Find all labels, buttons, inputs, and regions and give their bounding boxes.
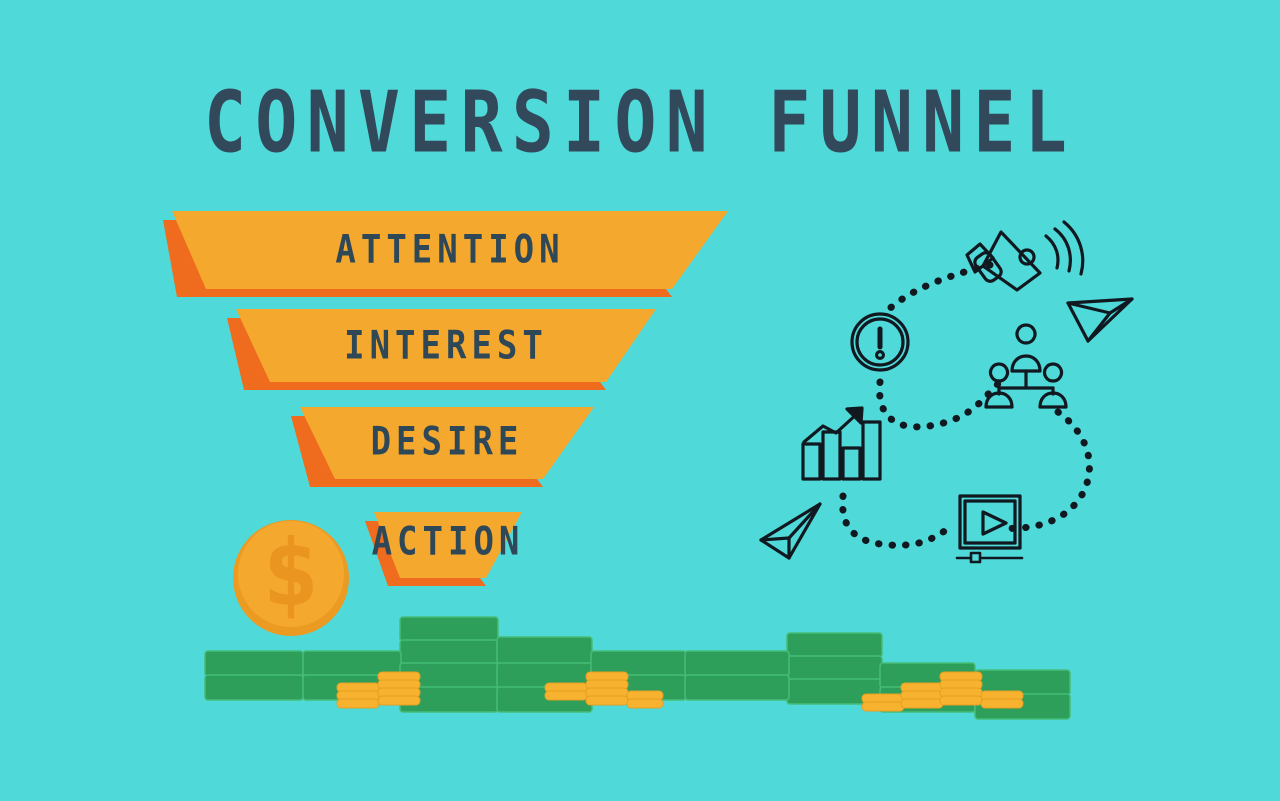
money-brick <box>685 651 789 676</box>
bar-chart-growth-icon[interactable] <box>803 408 880 479</box>
money-brick <box>497 637 592 664</box>
money-brick <box>205 675 303 700</box>
funnel-stage-action-shadow-bar <box>388 578 486 586</box>
funnel-stage-label-interest: INTEREST <box>236 323 656 369</box>
money-brick <box>400 617 498 641</box>
marketing-icon-cluster <box>761 222 1132 562</box>
poster-canvas: CONVERSION FUNNEL <box>0 0 1280 801</box>
money-brick <box>787 656 882 680</box>
funnel-stage-label-desire: DESIRE <box>300 419 594 465</box>
people-network-icon[interactable] <box>986 325 1066 407</box>
alert-circle-icon[interactable] <box>852 314 908 370</box>
funnel-stage-desire-shadow-bar <box>310 479 543 487</box>
funnel-stage-attention-shadow-bar <box>177 289 672 297</box>
funnel-graphic <box>0 0 1280 801</box>
funnel-stage-label-action: ACTION <box>324 519 572 565</box>
money-brick <box>400 640 498 664</box>
money-brick <box>685 675 789 700</box>
money-brick <box>205 651 303 676</box>
funnel-stage-label-attention: ATTENTION <box>172 227 728 273</box>
money-brick <box>787 633 882 657</box>
megaphone-icon[interactable] <box>967 222 1083 290</box>
dollar-sign-symbol: $ <box>241 520 341 626</box>
funnel-stage-interest-shadow-bar <box>244 382 606 390</box>
paper-plane-icon[interactable] <box>1068 299 1132 341</box>
money-stacks <box>205 617 1070 719</box>
paper-plane-icon[interactable] <box>761 504 820 558</box>
